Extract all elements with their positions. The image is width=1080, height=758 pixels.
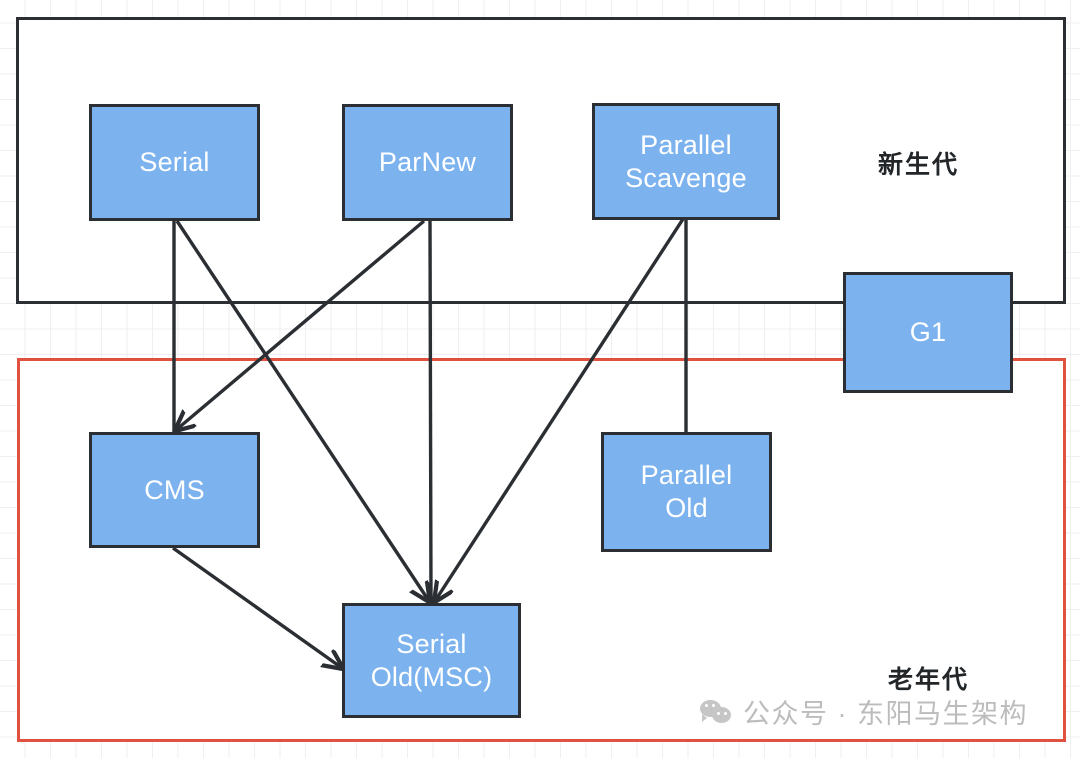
young-generation-label: 新生代 bbox=[878, 145, 959, 181]
gc-box-serial-old[interactable]: Serial Old(MSC) bbox=[342, 603, 521, 718]
watermark-text: 公众号 · 东阳马生架构 bbox=[743, 692, 1028, 731]
gc-box-g1[interactable]: G1 bbox=[843, 272, 1013, 393]
old-generation-label: 老年代 bbox=[888, 660, 969, 696]
wechat-icon bbox=[700, 699, 734, 725]
gc-box-cms[interactable]: CMS bbox=[89, 432, 260, 548]
gc-box-parnew[interactable]: ParNew bbox=[342, 104, 513, 221]
gc-box-parallel-old[interactable]: Parallel Old bbox=[601, 432, 772, 552]
gc-box-parallel-scavenge[interactable]: Parallel Scavenge bbox=[592, 103, 780, 220]
gc-box-serial[interactable]: Serial bbox=[89, 104, 260, 221]
diagram-canvas: Serial ParNew Parallel Scavenge G1 CMS P… bbox=[0, 0, 1080, 758]
watermark: 公众号 · 东阳马生架构 bbox=[700, 692, 1028, 731]
